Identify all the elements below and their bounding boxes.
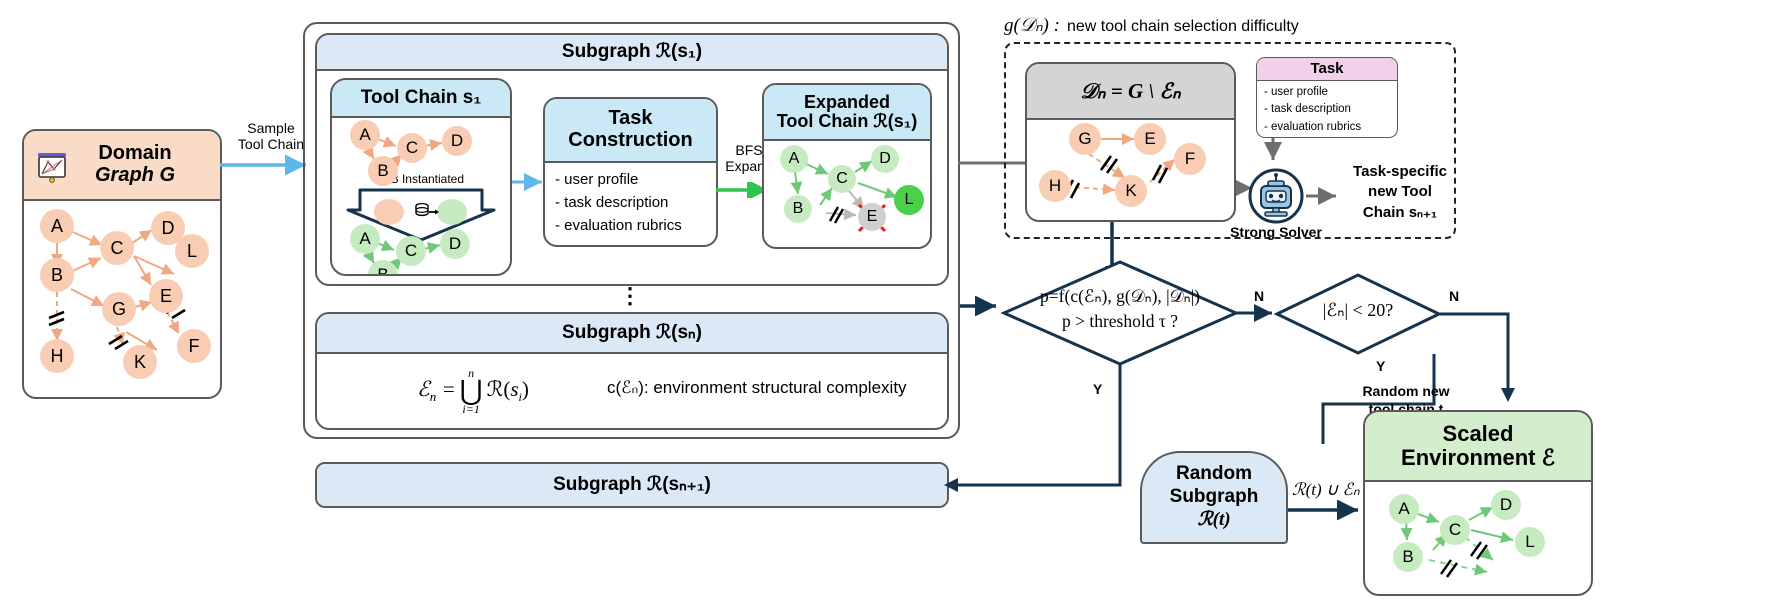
complexity-note: c(ℰₙ): environment structural complexity [607,378,907,398]
env-node-D: D [1491,490,1521,520]
difficulty-caption-math: g(𝒟ₙ) : [1004,15,1060,37]
union-formula-rhs: ℛ(si) [487,377,529,405]
domain-node-A: A [40,209,74,243]
domain-graph-card: Domain Graph G [22,129,222,399]
dn-header: 𝒟ₙ = G \ ℰₙ [1027,64,1234,120]
dn-node-F: F [1174,143,1206,175]
tc-node-D2: D [440,229,470,259]
task-specific-output: Task-specific new Tool Chain sₙ₊₁ [1345,162,1455,223]
scaled-env-title-2: Environment ℰ [1401,446,1555,470]
task-construction-header: Task Construction [545,99,716,163]
tc-node-B2: B [368,260,398,276]
dn-node-E: E [1134,123,1166,155]
decision1-line-1: p=f(c(ℰₙ), g(𝒟ₙ), |𝒟ₙ|) [1000,284,1240,309]
difficulty-caption: g(𝒟ₙ) : new tool chain selection difficu… [1004,15,1299,37]
expanded-tool-chain-body: A C D B L E [764,141,930,247]
scaled-env-title-1: Scaled [1443,422,1514,446]
task-construction-title-2: Construction [568,130,692,152]
domain-graph-title-1: Domain [95,143,175,165]
sample-tool-chain-label: Sample Tool Chain [228,120,314,152]
graph-chart-icon [34,147,70,183]
union-glyph: ⋃ [460,379,483,404]
task-card: Task - user profile - task description -… [1256,57,1398,138]
dn-card: 𝒟ₙ = G \ ℰₙ G E F H K [1025,62,1236,222]
domain-graph-header: Domain Graph G [24,131,220,201]
tc-node-D: D [442,126,472,156]
dn-node-G: G [1069,123,1101,155]
domain-node-B: B [40,258,74,292]
tc-node-C2: C [396,236,426,266]
tool-chain-body: DB Instantiated A C D B A C D B [332,118,510,274]
tc-node-A2: A [350,224,380,254]
tool-chain-card: Tool Chain s₁ [330,78,512,276]
subgraph-s1-header: Subgraph ℛ(s₁) [317,35,947,71]
output-line-3: Chain sₙ₊₁ [1345,203,1455,223]
env-node-A: A [1389,494,1419,524]
random-subgraph-card: Random Subgraph ℛ(t) [1140,451,1288,544]
union-lower-limit: i=1 [462,404,479,415]
tc-node-A: A [350,120,380,150]
task-construction-body: - user profile - task description - eval… [545,163,716,245]
task-card-items: - user profile - task description - eval… [1264,84,1361,136]
scaled-environment-card: Scaled Environment ℰ A C D B L [1363,410,1593,596]
output-line-1: Task-specific [1345,162,1455,182]
task-card-body: - user profile - task description - eval… [1257,81,1397,137]
domain-graph-body: A C D B E L G F H K [24,201,220,397]
decision1-no-label: N [1254,288,1264,304]
expanded-tool-chain-header: Expanded Tool Chain ℛ(s₁) [764,85,930,141]
scaled-env-header: Scaled Environment ℰ [1365,412,1591,482]
exp-node-B: B [784,195,812,223]
task-construction-items: - user profile - task description - eval… [555,169,682,237]
domain-node-K: K [123,345,157,379]
expanded-title-1: Expanded [804,93,890,112]
difficulty-caption-text: new tool chain selection difficulty [1067,18,1299,36]
exp-node-C: C [828,165,856,193]
vertical-ellipsis: ⋮ [600,292,660,301]
domain-node-L: L [175,234,209,268]
domain-graph-title-2: Graph G [95,165,175,187]
random-subgraph-line-1: Random [1176,463,1252,486]
env-node-C: C [1440,515,1470,545]
sample-label-line1: Sample [228,120,314,136]
decision-size-text: |ℰₙ| < 20? [1274,300,1442,321]
subgraph-sn-header: Subgraph ℛ(sₙ) [317,314,947,354]
union-edge-label: ℛ(t) ∪ ℰₙ [1292,480,1360,500]
output-line-2: new Tool [1345,182,1455,202]
exp-node-D: D [871,145,899,173]
tc-item-1: - task description [555,192,682,215]
decision1-yes-path [940,362,1140,492]
task-construction-card: Task Construction - user profile - task … [543,97,718,247]
domain-node-C: C [100,231,134,265]
exp-node-A: A [780,145,808,173]
strong-solver-label: Strong Solver [1226,224,1326,240]
task-item-2: - evaluation rubrics [1264,119,1361,136]
random-subgraph-line-2: Subgraph [1170,486,1259,509]
decision1-line-2: p > threshold τ ? [1000,309,1240,334]
task-construction-title-1: Task [608,108,652,130]
task-item-0: - user profile [1264,84,1361,101]
db-instantiated-label: DB Instantiated [332,173,512,187]
dn-node-K: K [1115,175,1147,207]
env-node-L: L [1515,527,1545,557]
expanded-tool-chain-card: Expanded Tool Chain ℛ(s₁) [762,83,932,249]
dn-node-H: H [1039,170,1071,202]
domain-node-E: E [149,279,183,313]
decision-threshold-text: p=f(c(ℰₙ), g(𝒟ₙ), |𝒟ₙ|) p > threshold τ … [1000,284,1240,335]
solver-to-output-arrow [1306,186,1350,206]
scaled-env-body: A C D B L [1365,482,1591,594]
subgraph-sn1-card: Subgraph ℛ(sₙ₊₁) [315,462,949,508]
tool-chain-header: Tool Chain s₁ [332,80,510,118]
subgraph-sn1-header: Subgraph ℛ(sₙ₊₁) [317,464,947,506]
expanded-title-2: Tool Chain ℛ(s₁) [777,112,917,131]
strong-solver [1248,168,1304,224]
dn-body: G E F H K [1027,120,1234,220]
task-to-solver-arrow [1258,138,1288,172]
robot-icon [1248,168,1304,224]
env-node-B: B [1393,542,1423,572]
domain-node-G: G [102,292,136,326]
random-subgraph-line-3: ℛ(t) [1197,509,1230,532]
subgraph-sn-body: ℰn = n ⋃ i=1 ℛ(si) c(ℰₙ): environment st… [317,354,947,428]
domain-node-F: F [177,329,211,363]
exp-node-L: L [894,185,924,215]
tc-node-C: C [397,133,427,163]
tc-node-B: B [368,156,398,186]
task-card-header: Task [1257,58,1397,81]
exp-node-E-removed: E [858,203,886,231]
subgraph-sn-card: Subgraph ℛ(sₙ) ℰn = n ⋃ i=1 ℛ(si) c(ℰₙ):… [315,312,949,430]
tc-item-0: - user profile [555,169,682,192]
random-edge-line-1: Random new [1336,382,1476,400]
union-formula: ℰn = n ⋃ i=1 ℛ(si) [417,368,529,415]
domain-node-H: H [40,339,74,373]
union-symbol-stack: n ⋃ i=1 [460,368,483,415]
union-formula-lhs: ℰn = [417,377,456,405]
tc-item-2: - evaluation rubrics [555,215,682,238]
task-item-1: - task description [1264,101,1361,118]
